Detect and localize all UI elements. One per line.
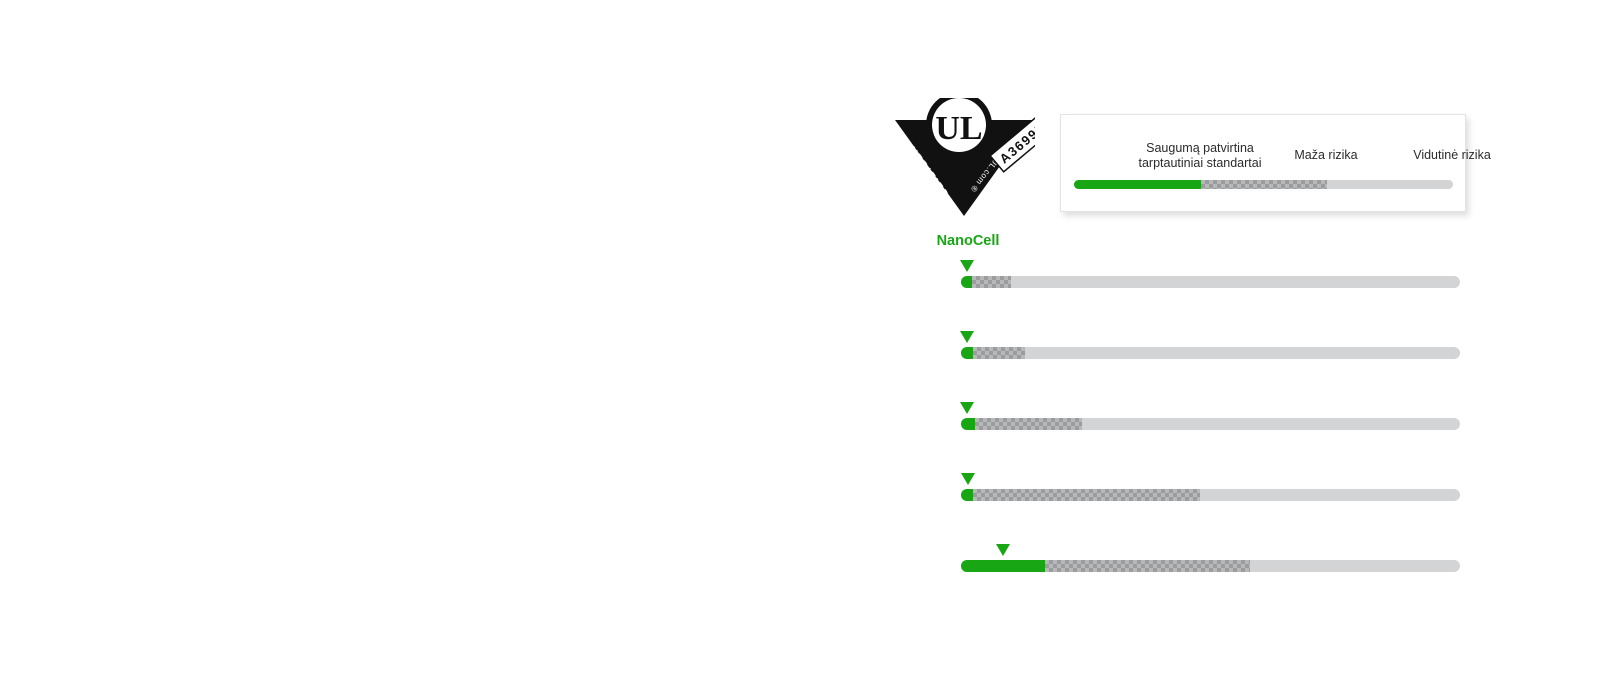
legend-panel: Saugumą patvirtina tarptautiniai standar… bbox=[1060, 114, 1466, 212]
risk-bar-segment-safe bbox=[961, 347, 973, 359]
risk-bar-track bbox=[961, 560, 1460, 572]
series-label-nanocell: NanoCell bbox=[937, 233, 1000, 249]
risk-bar-track bbox=[961, 276, 1460, 288]
chart-canvas: UL VERIFIED verifyUL.com ® A369956 Saugu… bbox=[0, 0, 1600, 700]
risk-bar-segment-low bbox=[1045, 560, 1250, 572]
legend-scale-bar bbox=[1074, 180, 1453, 189]
legend-segment-safe bbox=[1074, 180, 1201, 189]
nanocell-marker-triangle bbox=[960, 402, 974, 414]
nanocell-marker-triangle bbox=[996, 544, 1010, 556]
risk-bar-track bbox=[961, 418, 1460, 430]
legend-segment-low bbox=[1201, 180, 1327, 189]
risk-bar-segment-safe bbox=[961, 560, 1045, 572]
nanocell-marker-triangle bbox=[961, 473, 975, 485]
risk-bar-segment-low bbox=[973, 347, 1025, 359]
svg-text:UL: UL bbox=[935, 110, 982, 147]
nanocell-marker-triangle bbox=[960, 260, 974, 272]
risk-bar-segment-low bbox=[975, 418, 1082, 430]
risk-bar-segment-low bbox=[973, 489, 1200, 501]
legend-segment-medium bbox=[1327, 180, 1453, 189]
risk-bar-segment-safe bbox=[961, 418, 975, 430]
risk-bar-track bbox=[961, 347, 1460, 359]
nanocell-marker-triangle bbox=[960, 331, 974, 343]
ul-verified-mark: UL VERIFIED verifyUL.com ® A369956 bbox=[893, 98, 1035, 218]
risk-bar-track bbox=[961, 489, 1460, 501]
risk-bar-segment-safe bbox=[961, 489, 973, 501]
legend-labels: Saugumą patvirtina tarptautiniai standar… bbox=[1074, 141, 1454, 183]
legend-label-medium: Vidutinė rizika bbox=[1326, 148, 1578, 163]
risk-bar-segment-safe bbox=[961, 276, 972, 288]
risk-bar-segment-low bbox=[972, 276, 1011, 288]
